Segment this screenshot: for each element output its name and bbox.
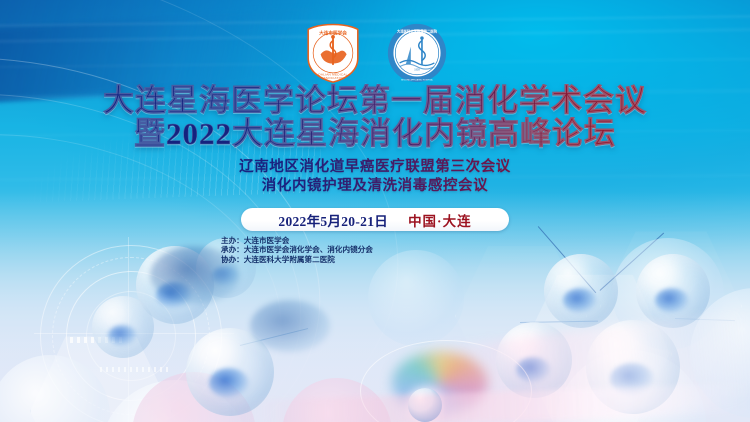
bubble (368, 250, 464, 346)
molecule-orb (636, 254, 710, 328)
hexagon-outline (520, 268, 672, 422)
organizer-undertaker: 承办：大连市医学会消化学会、消化内镜分会 (221, 245, 551, 254)
soft-blob (250, 300, 330, 352)
organizer-coorganizer: 协办：大连医科大学附属第二医院 (221, 255, 551, 264)
light-ribbon (416, 310, 750, 422)
bubble (0, 355, 110, 422)
molecule-bond (520, 321, 598, 324)
conference-location: 中国·大连 (408, 210, 472, 230)
bubble (612, 238, 724, 350)
title-line-2: 暨2022大连星海消化内镜高峰论坛 (0, 117, 750, 151)
conference-date: 2022年5月20-21日 (278, 210, 388, 230)
molecule-bond (675, 318, 735, 321)
bubble-pink (132, 372, 256, 422)
molecule-orb (186, 328, 274, 416)
iridescent-orb-core (408, 388, 442, 422)
molecule-orb (92, 296, 154, 358)
subtitle-line-2: 消化内镜护理及清洗消毒感控会议 (0, 177, 750, 196)
subtitle-line-1: 辽南地区消化道早癌医疗联盟第三次会议 (0, 158, 750, 177)
molecule-bond (240, 328, 308, 346)
date-location-banner: 2022年5月20-21日 中国·大连 (241, 208, 509, 231)
molecule-bond (600, 233, 665, 292)
molecule-orb (544, 254, 618, 328)
tech-ring-cluster (40, 245, 220, 422)
molecule-orb (496, 322, 572, 398)
organizer-host: 主办：大连市医学会 (221, 236, 551, 245)
hexagon-outline (600, 225, 742, 387)
title-line-1: 大连星海医学论坛第一届消化学术会议 (0, 84, 750, 117)
bubble (100, 380, 250, 422)
poster-text: 大连星海医学论坛第一届消化学术会议 暨2022大连星海消化内镜高峰论坛 辽南地区… (0, 0, 750, 196)
hexagon-fill (520, 268, 670, 422)
organizer-list: 主办：大连市医学会 承办：大连市医学会消化学会、消化内镜分会 协办：大连医科大学… (199, 236, 551, 264)
light-ribbon (230, 383, 750, 422)
bubble (556, 350, 706, 422)
molecule-orb (586, 320, 680, 414)
bubble-pink (282, 378, 392, 422)
hexagon-outline (30, 330, 172, 422)
iridescent-orb (392, 352, 488, 414)
orb-ring (360, 340, 532, 422)
bubble (690, 288, 750, 418)
conference-poster: 大连市医学会 DALIAN MEDICAL ASSOCIATION 大连医科大学… (0, 0, 750, 422)
